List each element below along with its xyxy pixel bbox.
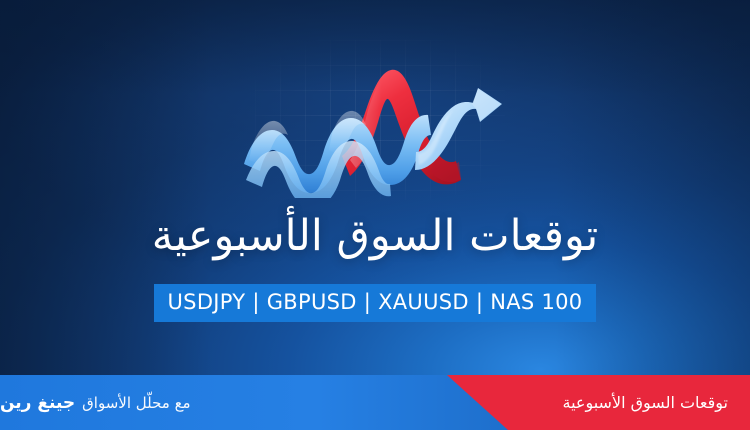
footer-title-block: توقعات السوق الأسبوعية <box>563 375 729 430</box>
analyst-label: مع محلّل الأسواق <box>82 394 190 412</box>
footer-bar: مع محلّل الأسواق جينغ رين توقعات السوق ا… <box>0 375 750 430</box>
page-title: توقعات السوق الأسبوعية <box>0 212 750 260</box>
instrument-pairs-badge: USDJPY | GBPUSD | XAUUSD | NAS 100 <box>154 284 597 322</box>
weekly-market-forecast-banner: توقعات السوق الأسبوعية USDJPY | GBPUSD |… <box>0 0 750 430</box>
pairs-badge-row: USDJPY | GBPUSD | XAUUSD | NAS 100 <box>0 284 750 322</box>
footer-title: توقعات السوق الأسبوعية <box>563 393 729 412</box>
market-forecast-ribbon-logo <box>240 48 510 198</box>
analyst-name: جينغ رين <box>0 393 75 413</box>
footer-analyst-block: مع محلّل الأسواق جينغ رين <box>0 375 430 430</box>
